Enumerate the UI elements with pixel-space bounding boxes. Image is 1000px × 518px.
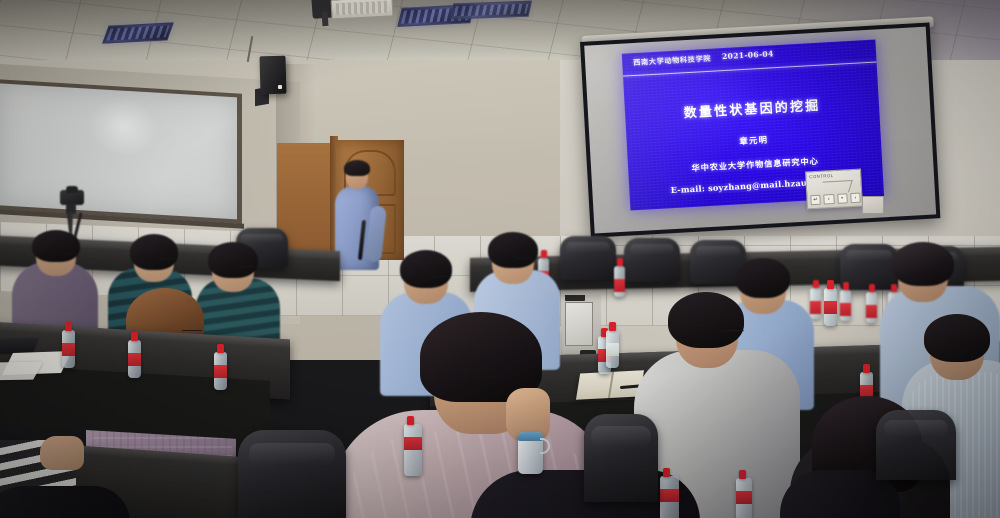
presenter-glasses: [353, 172, 368, 175]
control-panel-label: CONTROL: [809, 173, 834, 179]
person-hand: [40, 436, 84, 470]
ceiling-light-panel: [450, 1, 532, 20]
camera-lens-icon: [66, 186, 78, 193]
chair[interactable]: [584, 414, 658, 502]
next-button-icon[interactable]: ›: [850, 193, 861, 204]
enter-button-icon[interactable]: ↵: [810, 195, 821, 206]
person-hair: [208, 242, 258, 278]
control-panel-diagram-icon: [819, 180, 853, 194]
water-bottle[interactable]: [62, 330, 75, 368]
person-hair: [892, 242, 954, 286]
person-hair: [668, 292, 744, 348]
whiteboard: [0, 79, 242, 224]
interior-window: [565, 302, 593, 346]
door-sign: [565, 295, 585, 301]
slide-header: 西南大学动物科技学院 2021-06-04: [622, 40, 877, 77]
slide-divider: [623, 61, 877, 77]
slide-date: 2021-06-04: [722, 49, 774, 61]
chair[interactable]: [560, 236, 616, 280]
ceiling-projector: [331, 0, 394, 20]
person-glasses: [516, 258, 534, 261]
person-glasses: [62, 253, 78, 256]
av-control-panel[interactable]: CONTROL ↵ ‹ • ›: [805, 169, 863, 210]
person-glasses: [894, 272, 916, 275]
whiteboard-glare: [88, 95, 158, 159]
water-bottle[interactable]: [404, 424, 422, 476]
person-hair: [924, 314, 990, 362]
projector-arm: [322, 12, 329, 26]
water-bottle[interactable]: [128, 340, 141, 378]
water-bottle[interactable]: [824, 288, 837, 326]
control-panel-buttons[interactable]: ↵ ‹ • ›: [810, 193, 860, 206]
person-hair: [488, 232, 538, 268]
person-hair: [736, 258, 790, 298]
wall-speaker: [260, 56, 287, 95]
water-bottle[interactable]: [840, 290, 851, 321]
slide-title: 数量性状基因的挖掘: [625, 91, 880, 124]
person-glasses: [236, 266, 254, 269]
lecture-room-photo: 西南大学动物科技学院 2021-06-04 数量性状基因的挖掘 章元明 华中农业…: [0, 0, 1000, 518]
chair[interactable]: [624, 238, 680, 282]
water-bottle[interactable]: [810, 288, 821, 319]
wall-outlet-plate: [862, 196, 884, 214]
water-bottle[interactable]: [614, 266, 625, 297]
person-glasses: [430, 276, 449, 279]
chair[interactable]: [238, 430, 346, 518]
person-hair: [400, 250, 452, 288]
thermos-tumbler[interactable]: [518, 432, 543, 474]
water-bottle[interactable]: [736, 478, 752, 518]
slide-institution: 西南大学动物科技学院: [633, 54, 711, 68]
person-hair: [32, 230, 80, 262]
stop-button-icon[interactable]: •: [837, 193, 848, 204]
person-glasses: [158, 258, 175, 261]
projection-screen: 西南大学动物科技学院 2021-06-04 数量性状基因的挖掘 章元明 华中农业…: [580, 22, 940, 237]
chair[interactable]: [876, 410, 956, 480]
ceiling-light-panel: [102, 22, 174, 43]
person-glasses: [722, 330, 744, 333]
water-bottle[interactable]: [214, 352, 227, 390]
person-hair: [130, 234, 178, 270]
slide-author: 章元明: [627, 127, 881, 153]
water-bottle[interactable]: [606, 330, 619, 368]
speaker-led-icon: [278, 85, 282, 89]
prev-button-icon[interactable]: ‹: [824, 194, 835, 205]
water-bottle[interactable]: [866, 292, 877, 323]
water-bottle[interactable]: [660, 476, 679, 518]
person-torso: [0, 486, 130, 518]
chair[interactable]: [840, 244, 898, 290]
